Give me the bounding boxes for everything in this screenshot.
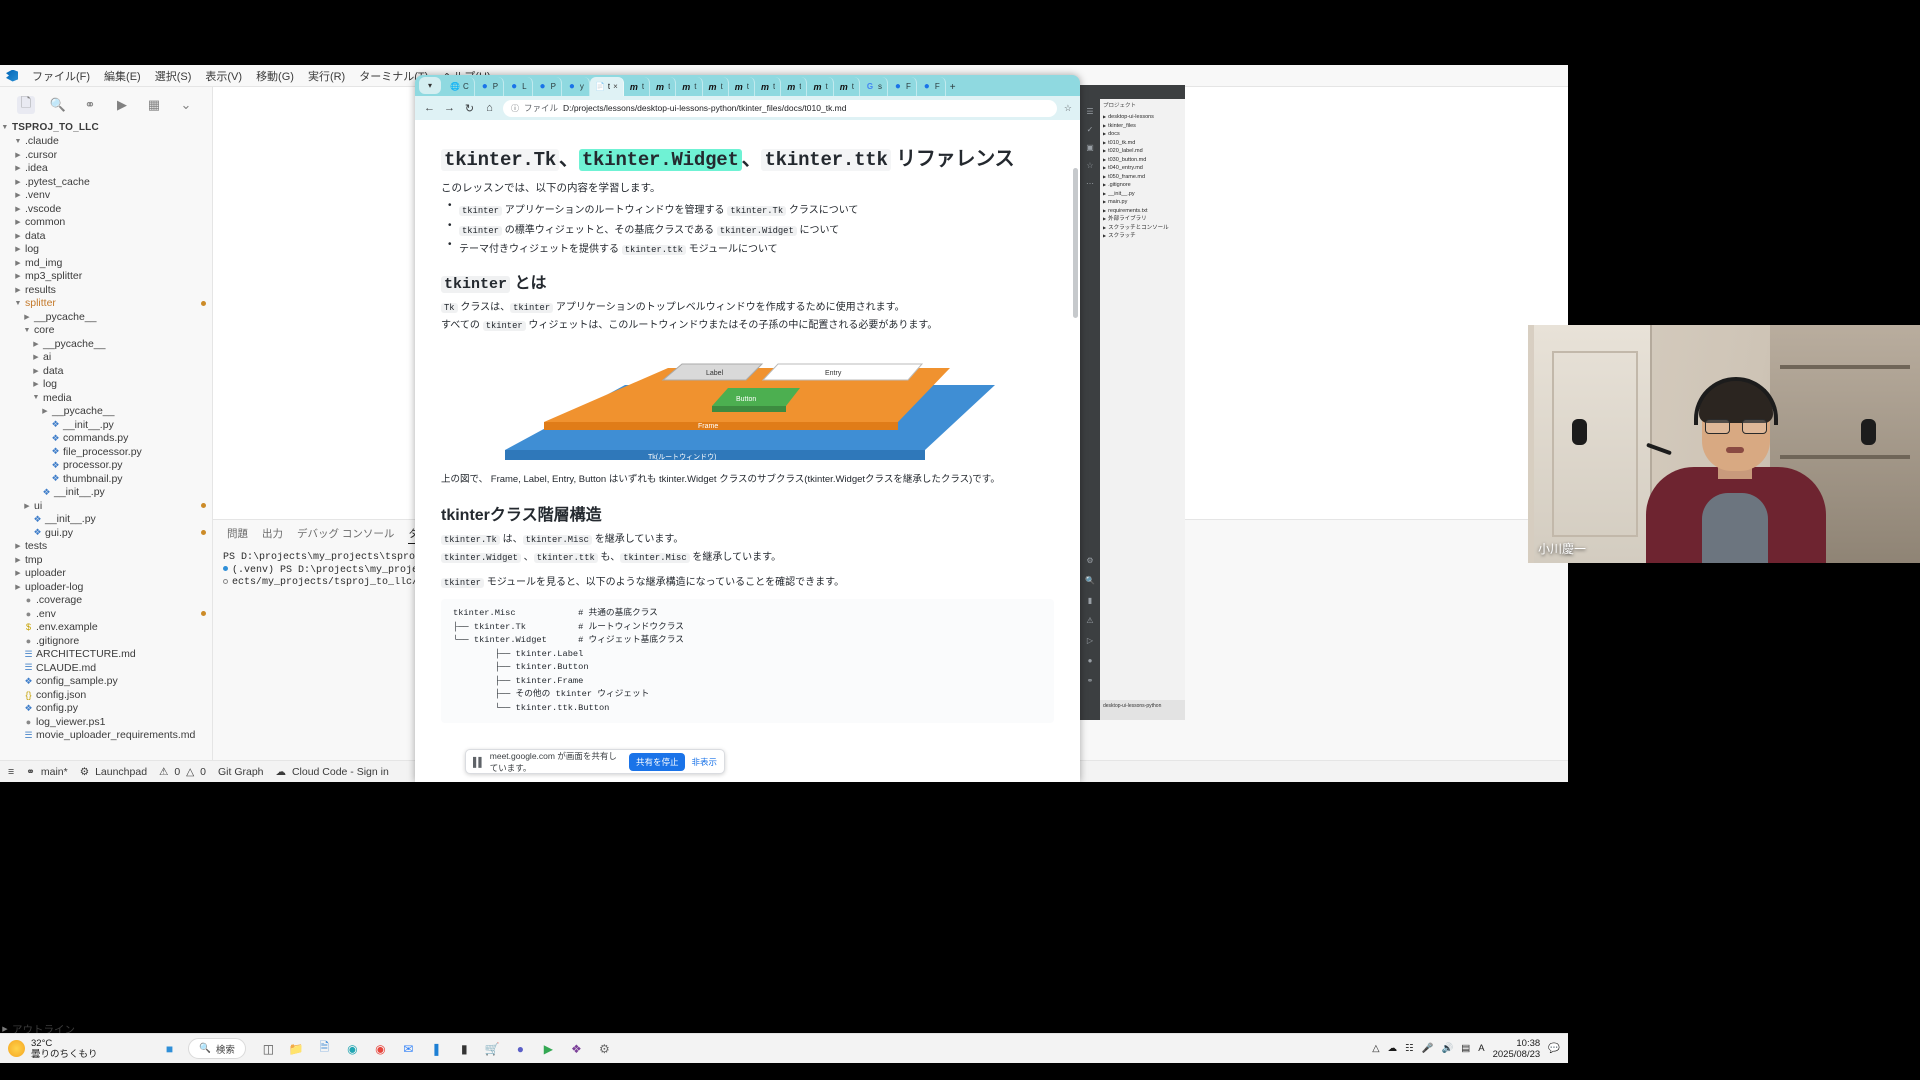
- chrome-tabstrip[interactable]: ▾ 🌐C●P●L●P●y📄t×mtmtmtmtmtmtmtmtmtGs●F●F+: [415, 75, 1080, 96]
- commit-tool-icon[interactable]: ✓: [1087, 125, 1094, 134]
- menu-edit[interactable]: 編集(E): [98, 66, 147, 86]
- debug-icon[interactable]: ▶: [113, 96, 131, 114]
- browser-tab-label: t: [852, 82, 854, 91]
- address-bar[interactable]: ⓘ ファイル D:/projects/lessons/desktop-ui-le…: [503, 100, 1057, 117]
- chevron-right-icon: ▶: [13, 191, 23, 199]
- tab-search-icon[interactable]: ▾: [419, 77, 441, 94]
- search-icon[interactable]: 🔍: [49, 96, 67, 114]
- pycharm-tree-item[interactable]: ▶t010_tk.md: [1103, 139, 1182, 148]
- status-branch[interactable]: ⚭ main*: [26, 766, 68, 778]
- chevron-right-icon: ▶: [1103, 215, 1106, 224]
- tree-folder[interactable]: ▶mp3_splitter: [0, 270, 212, 284]
- tree-folder[interactable]: ▶__pycache__: [0, 405, 212, 419]
- inline-code: tkinter: [441, 276, 510, 293]
- pycharm-tree-item[interactable]: ▶スクラッチとコンソール: [1103, 224, 1182, 233]
- store-icon[interactable]: 🛒: [483, 1039, 502, 1058]
- edge-icon[interactable]: ◉: [343, 1039, 362, 1058]
- browser-tab[interactable]: mt: [755, 77, 781, 96]
- inline-code: tkinter.Widget: [717, 226, 797, 236]
- headset-icon: [1694, 377, 1778, 425]
- explorer-icon[interactable]: 🗋: [17, 96, 35, 114]
- tree-item-label: mp3_splitter: [23, 270, 82, 282]
- task-view-icon[interactable]: ◫: [259, 1039, 278, 1058]
- notepad-icon[interactable]: 🗎: [315, 1039, 334, 1058]
- m-icon: m: [708, 82, 718, 92]
- markdown-file-icon: ☰: [23, 649, 34, 660]
- panel-tab-output[interactable]: 出力: [262, 526, 283, 544]
- slack-icon[interactable]: ❖: [567, 1039, 586, 1058]
- file-icon: ●: [23, 595, 34, 605]
- tree-folder[interactable]: ▼media: [0, 391, 212, 405]
- chevron-right-icon: ▶: [1103, 224, 1106, 233]
- status-git-graph[interactable]: Git Graph: [218, 766, 264, 778]
- tree-item-label: .coverage: [34, 594, 82, 606]
- tree-folder[interactable]: ▶results: [0, 283, 212, 297]
- screen-share-bar: ▌▌ meet.google.com が画面を共有しています。 共有を停止 非表…: [465, 749, 725, 774]
- m-icon: m: [786, 82, 796, 92]
- python-file-icon: ❖: [50, 446, 61, 457]
- tree-file[interactable]: ❖config_sample.py: [0, 675, 212, 689]
- tree-item-label: __init__.py: [43, 513, 96, 525]
- inline-code: tkinter.ttk: [534, 553, 598, 563]
- tree-item-label: config.json: [34, 689, 86, 701]
- markdown-file-icon: ☰: [23, 730, 34, 741]
- tree-file[interactable]: ❖processor.py: [0, 459, 212, 473]
- pycharm-tree-label: requirements.txt: [1108, 207, 1147, 216]
- pycharm-project-tree[interactable]: ▶desktop-ui-lessons▶tkinter_files▶docs▶t…: [1100, 111, 1185, 243]
- tree-item-label: __init__.py: [52, 486, 105, 498]
- taskbar-clock[interactable]: 10:38 2025/08/23: [1493, 1038, 1541, 1060]
- tree-folder[interactable]: ▶.venv: [0, 189, 212, 203]
- source-control-icon[interactable]: ⚭: [81, 96, 99, 114]
- pycharm-project-label: プロジェクト: [1100, 99, 1185, 111]
- mic-icon[interactable]: 🎤: [1422, 1043, 1434, 1054]
- pycharm-tree-label: t030_button.md: [1108, 156, 1146, 165]
- modified-indicator: [201, 530, 206, 535]
- m-icon: m: [629, 82, 639, 92]
- tree-folder[interactable]: ▶common: [0, 216, 212, 230]
- chevron-down-icon: ▼: [22, 327, 32, 334]
- debug-tool-icon[interactable]: ●: [1088, 656, 1093, 665]
- tree-item-label: log_viewer.ps1: [34, 716, 105, 728]
- terminal-icon[interactable]: ▮: [455, 1039, 474, 1058]
- tree-item-label: data: [41, 365, 63, 377]
- git-tool-icon[interactable]: ⚭: [1087, 676, 1094, 685]
- chevron-right-icon: ▶: [13, 178, 23, 186]
- tree-item-label: .cursor: [23, 149, 57, 161]
- m-icon: m: [812, 82, 822, 92]
- taskbar-icons[interactable]: ■ 🔍 検索 ◫ 📁 🗎 ◉ ◉ ✉ ❚ ▮ 🛒 ● ▶ ❖ ⚙: [160, 1038, 1372, 1059]
- tree-folder[interactable]: ▶ai: [0, 351, 212, 365]
- modified-indicator: [201, 503, 206, 508]
- menu-run[interactable]: 実行(R): [302, 66, 351, 86]
- inline-code: tkinter: [483, 321, 526, 331]
- tree-file[interactable]: ❖gui.py: [0, 526, 212, 540]
- chevron-right-icon: ▶: [13, 218, 23, 226]
- search-tool-icon[interactable]: 🔍: [1085, 576, 1095, 585]
- menu-view[interactable]: 表示(V): [199, 66, 248, 86]
- drop-icon: ●: [509, 82, 519, 92]
- browser-tab-label: C: [463, 82, 469, 91]
- hide-sharing-button[interactable]: 非表示: [691, 756, 717, 768]
- chevron-down-icon: ▼: [0, 124, 10, 131]
- chevron-right-icon: ▶: [1103, 130, 1106, 139]
- chevron-down-icon: ▼: [31, 394, 41, 401]
- explorer-root[interactable]: ▼TSPROJ_TO_LLC: [0, 121, 212, 135]
- tree-item-label: log: [23, 243, 39, 255]
- objective-item: tkinter アプリケーションのルートウィンドウを管理する tkinter.T…: [445, 201, 1054, 216]
- drop-icon: ●: [922, 82, 932, 92]
- tree-folder[interactable]: ▶md_img: [0, 256, 212, 270]
- pycharm-tree-item[interactable]: ▶docs: [1103, 130, 1182, 139]
- chevron-right-icon: ▶: [31, 367, 41, 375]
- tree-item-label: __pycache__: [41, 338, 105, 350]
- tree-item-label: .env: [34, 608, 56, 620]
- menu-file[interactable]: ファイル(F): [26, 66, 96, 86]
- tree-item-label: results: [23, 284, 56, 296]
- forward-arrow-icon[interactable]: →: [443, 102, 456, 114]
- m-icon: m: [681, 82, 691, 92]
- tree-folder[interactable]: ▼core: [0, 324, 212, 338]
- tree-file[interactable]: ●log_viewer.ps1: [0, 715, 212, 729]
- desktop-strip: [0, 1063, 1568, 1080]
- tree-folder[interactable]: ▶.pytest_cache: [0, 175, 212, 189]
- file-icon: ●: [23, 717, 34, 727]
- pycharm-window: プロジェクト ▶desktop-ui-lessons▶tkinter_files…: [1100, 85, 1185, 720]
- page-info-icon[interactable]: ⓘ: [511, 103, 519, 114]
- project-tool-icon[interactable]: ☰: [1086, 107, 1093, 116]
- pycharm-tree-item[interactable]: ▶main.py: [1103, 198, 1182, 207]
- panel-tab-debug-console[interactable]: デバッグ コンソール: [297, 526, 394, 544]
- windows-taskbar: 32°C 曇りのちくもり ■ 🔍 検索 ◫ 📁 🗎 ◉ ◉ ✉ ❚ ▮ 🛒 ● …: [0, 1033, 1568, 1063]
- tree-file[interactable]: ☰movie_uploader_requirements.md: [0, 729, 212, 743]
- volume-icon[interactable]: 🔊: [1441, 1043, 1453, 1054]
- modified-indicator: [201, 301, 206, 306]
- chevron-right-icon: ▶: [22, 502, 32, 510]
- browser-tab[interactable]: mt: [676, 77, 702, 96]
- pycharm-tree-item[interactable]: ▶desktop-ui-lessons: [1103, 113, 1182, 122]
- back-arrow-icon[interactable]: ←: [423, 102, 436, 114]
- tree-item-label: config_sample.py: [34, 675, 118, 687]
- browser-tab-label: s: [878, 82, 882, 91]
- tree-item-label: .idea: [23, 162, 48, 174]
- browser-tab[interactable]: mt: [729, 77, 755, 96]
- pycharm-tree-item[interactable]: ▶.gitignore: [1103, 181, 1182, 190]
- pycharm-tree-item[interactable]: ▶__init__.py: [1103, 190, 1182, 199]
- headset-earcup-left: [1572, 419, 1587, 445]
- tree-file[interactable]: $.env.example: [0, 621, 212, 635]
- tree-folder[interactable]: ▶log: [0, 243, 212, 257]
- browser-tab-label: t: [642, 82, 644, 91]
- status-errors[interactable]: ⚠ 0 △ 0: [159, 766, 206, 778]
- chevron-right-icon: ▶: [13, 232, 23, 240]
- pycharm-tree-item[interactable]: ▶t040_entry.md: [1103, 164, 1182, 173]
- section-heading-hierarchy: tkinterクラス階層構造: [441, 501, 1054, 525]
- tree-folder[interactable]: ▼splitter: [0, 297, 212, 311]
- figure-frame-label: Frame: [698, 423, 718, 430]
- objectives-list: tkinter アプリケーションのルートウィンドウを管理する tkinter.T…: [445, 201, 1054, 255]
- browser-tab[interactable]: ●F: [917, 77, 946, 96]
- browser-tab[interactable]: ●y: [562, 77, 590, 96]
- pycharm-tree-label: スクラッチとコンソール: [1108, 224, 1169, 233]
- tree-folder[interactable]: ▶uploader: [0, 567, 212, 581]
- env-file-icon: $: [23, 622, 34, 632]
- explorer-toolbar: 🗋 🔍 ⚭ ▶ ▦ ⌄: [0, 87, 212, 119]
- markdown-document: tkinter.Tk、tkinter.Widget、tkinter.ttk リフ…: [415, 120, 1080, 723]
- status-remote-icon[interactable]: ≡: [8, 766, 14, 778]
- pycharm-tree-item[interactable]: ▶requirements.txt: [1103, 207, 1182, 216]
- tree-file[interactable]: ❖commands.py: [0, 432, 212, 446]
- network-icon[interactable]: ☷: [1405, 1043, 1414, 1054]
- browser-tab[interactable]: ●P: [475, 77, 504, 96]
- start-icon[interactable]: ■: [160, 1039, 179, 1058]
- chevron-right-icon: ▶: [13, 151, 23, 159]
- m-icon: m: [839, 82, 849, 92]
- tree-file[interactable]: {}config.json: [0, 688, 212, 702]
- pycharm-tree-item[interactable]: ▶t050_frame.md: [1103, 173, 1182, 182]
- tree-folder[interactable]: ▶uploader-log: [0, 580, 212, 594]
- chevron-right-icon: ▶: [1103, 156, 1106, 165]
- problems-tool-icon[interactable]: ⚠: [1086, 616, 1093, 625]
- figure-svg: Label Entry Button Frame Tk(ルートウィンドウ): [500, 350, 995, 460]
- paragraph: tkinter モジュールを見ると、以下のような継承構造になっていることを確認で…: [441, 575, 1054, 591]
- tree-file[interactable]: ☰CLAUDE.md: [0, 661, 212, 675]
- tree-folder[interactable]: ▼.claude: [0, 135, 212, 149]
- meet-icon[interactable]: ▶: [539, 1039, 558, 1058]
- new-tab-button[interactable]: +: [946, 82, 960, 93]
- browser-tab[interactable]: mt: [650, 77, 676, 96]
- section-heading-tkinter-toha: tkinter とは: [441, 269, 1054, 293]
- tree-item-label: gui.py: [43, 527, 73, 539]
- tree-item-label: __pycache__: [50, 405, 114, 417]
- pycharm-tree-item[interactable]: ▶t030_button.md: [1103, 156, 1182, 165]
- tree-file[interactable]: ❖file_processor.py: [0, 445, 212, 459]
- onedrive-icon[interactable]: ☁: [1388, 1043, 1398, 1054]
- browser-tab[interactable]: ●P: [533, 77, 562, 96]
- tree-file[interactable]: ❖config.py: [0, 702, 212, 716]
- status-cloud-code[interactable]: ☁ Cloud Code - Sign in: [276, 766, 389, 778]
- tree-file[interactable]: ●.gitignore: [0, 634, 212, 648]
- tree-item-label: tests: [23, 540, 47, 552]
- menu-go[interactable]: 移動(G): [250, 66, 300, 86]
- file-tree[interactable]: ▼TSPROJ_TO_LLC▼.claude▶.cursor▶.idea▶.py…: [0, 119, 212, 782]
- run-tool-icon[interactable]: ▷: [1087, 636, 1093, 645]
- browser-tab[interactable]: mt: [834, 77, 860, 96]
- chevron-right-icon: ▶: [1103, 173, 1106, 182]
- tree-folder[interactable]: ▶ui: [0, 499, 212, 513]
- tree-item-label: .venv: [23, 189, 50, 201]
- tree-item-label: __pycache__: [32, 311, 96, 323]
- tree-folder[interactable]: ▶log: [0, 378, 212, 392]
- tree-item-label: data: [23, 230, 45, 242]
- browser-tab[interactable]: Gs: [860, 77, 888, 96]
- home-icon[interactable]: ⌂: [483, 102, 496, 114]
- weather-desc: 曇りのちくもり: [31, 1049, 98, 1060]
- browser-tab[interactable]: ●F: [888, 77, 917, 96]
- extensions-icon[interactable]: ▦: [145, 96, 163, 114]
- chevron-right-icon: ▶: [1103, 164, 1106, 173]
- structure-tool-icon[interactable]: ▣: [1086, 143, 1094, 152]
- tree-item-label: movie_uploader_requirements.md: [34, 729, 195, 741]
- title-code: tkinter.ttk: [761, 149, 890, 171]
- tree-folder[interactable]: ▶tests: [0, 540, 212, 554]
- reload-icon[interactable]: ↻: [463, 102, 476, 115]
- tree-folder[interactable]: ▶__pycache__: [0, 310, 212, 324]
- pycharm-tree-item[interactable]: ▶tkinter_files: [1103, 122, 1182, 131]
- browser-tab-label: t: [747, 82, 749, 91]
- hierarchy-description: tkinter.Tk は、tkinter.Misc を継承しています。tkint…: [441, 532, 1054, 566]
- tree-item-label: md_img: [23, 257, 62, 269]
- chrome-toolbar: ← → ↻ ⌂ ⓘ ファイル D:/projects/lessons/deskt…: [415, 96, 1080, 120]
- page-scrollbar[interactable]: [1073, 168, 1078, 318]
- share-pause-icon: ▌▌: [473, 757, 484, 767]
- settings-icon[interactable]: ⚙: [595, 1039, 614, 1058]
- webcam-door: [1534, 325, 1652, 563]
- browser-tab-label: t: [721, 82, 723, 91]
- tree-item-label: __init__.py: [61, 419, 114, 431]
- pycharm-tree-label: 外部ライブラリ: [1108, 215, 1147, 224]
- chevron-right-icon: ▶: [13, 205, 23, 213]
- python-file-icon: ❖: [50, 419, 61, 430]
- webcam-person: [1646, 357, 1826, 563]
- markdown-file-icon: ☰: [23, 662, 34, 673]
- close-icon[interactable]: ×: [613, 82, 618, 91]
- taskbar-search[interactable]: 🔍 検索: [188, 1038, 246, 1059]
- tree-file[interactable]: ❖__init__.py: [0, 486, 212, 500]
- drop-icon: ●: [567, 82, 577, 92]
- tree-file[interactable]: ❖__init__.py: [0, 513, 212, 527]
- search-icon: 🔍: [199, 1043, 211, 1054]
- tree-file[interactable]: ●.coverage: [0, 594, 212, 608]
- tree-folder[interactable]: ▶data: [0, 229, 212, 243]
- browser-tab-label: t: [799, 82, 801, 91]
- headset-earcup-right: [1861, 419, 1876, 445]
- python-file-icon: ❖: [23, 703, 34, 714]
- drop-icon: ●: [538, 82, 548, 92]
- chevron-right-icon: ▶: [13, 286, 23, 294]
- pycharm-tree-label: スクラッチ: [1108, 232, 1136, 241]
- tree-item-label: uploader-log: [23, 581, 83, 593]
- browser-tab[interactable]: mt: [781, 77, 807, 96]
- terminal-marker-icon: [223, 579, 228, 584]
- tree-folder[interactable]: ▶data: [0, 364, 212, 378]
- settings-tool-icon[interactable]: ⚙: [1086, 556, 1093, 565]
- browser-tab[interactable]: mt: [624, 77, 650, 96]
- tree-file[interactable]: ❖thumbnail.py: [0, 472, 212, 486]
- tree-file[interactable]: ☰ARCHITECTURE.md: [0, 648, 212, 662]
- chevron-right-icon: ▶: [1103, 232, 1106, 241]
- browser-tab-label: t: [608, 82, 610, 91]
- tree-item-label: ai: [41, 351, 51, 363]
- browser-tab[interactable]: 🌐C: [445, 77, 475, 96]
- chevron-right-icon: ▶: [1103, 122, 1106, 131]
- figure-label-label: Label: [706, 370, 724, 377]
- chevron-right-icon: ▶: [13, 583, 23, 591]
- system-tray[interactable]: △ ☁ ☷ 🎤 🔊 ▤ A 10:38 2025/08/23 💬: [1372, 1038, 1568, 1060]
- browser-tab[interactable]: 📄t×: [590, 77, 624, 96]
- pycharm-tree-item[interactable]: ▶外部ライブラリ: [1103, 215, 1182, 224]
- tree-item-label: uploader: [23, 567, 66, 579]
- mail-icon[interactable]: ✉: [399, 1039, 418, 1058]
- chevron-up-icon[interactable]: △: [1372, 1043, 1379, 1054]
- ime-icon[interactable]: A: [1478, 1043, 1484, 1054]
- paragraph: tkinter.Widget 、tkinter.ttk も、tkinter.Mi…: [441, 550, 1054, 566]
- m-icon: m: [655, 82, 665, 92]
- inline-code: tkinter.Widget: [441, 553, 521, 563]
- status-launchpad[interactable]: ⚙ Launchpad: [80, 766, 147, 778]
- notification-icon[interactable]: 💬: [1548, 1043, 1560, 1054]
- vscode-icon[interactable]: ❚: [427, 1039, 446, 1058]
- figure-root-label: Tk(ルートウィンドウ): [648, 453, 716, 460]
- pycharm-tree-item[interactable]: ▶t020_label.md: [1103, 147, 1182, 156]
- chevron-right-icon: ▶: [13, 259, 23, 267]
- tree-folder[interactable]: ▶.vscode: [0, 202, 212, 216]
- pycharm-tree-label: docs: [1108, 130, 1120, 139]
- explorer-icon[interactable]: 📁: [287, 1039, 306, 1058]
- python-file-icon: ❖: [50, 473, 61, 484]
- more-tool-icon[interactable]: ⋯: [1086, 179, 1094, 188]
- pycharm-statusbar: desktop-ui-lessons-python: [1100, 700, 1185, 720]
- chevron-right-icon: ▶: [31, 380, 41, 388]
- chevron-right-icon: ▶: [1103, 139, 1106, 148]
- browser-tab-label: F: [935, 82, 940, 91]
- tree-item-label: media: [41, 392, 72, 404]
- m-icon: m: [734, 82, 744, 92]
- more-actions-icon[interactable]: ⌄: [177, 96, 195, 114]
- tree-folder[interactable]: ▶.cursor: [0, 148, 212, 162]
- pycharm-tree-item[interactable]: ▶スクラッチ: [1103, 232, 1182, 241]
- menu-select[interactable]: 選択(S): [149, 66, 198, 86]
- panel-tab-problems[interactable]: 問題: [227, 526, 248, 544]
- inline-code: tkinter: [459, 226, 502, 236]
- tree-item-label: config.py: [34, 702, 78, 714]
- tree-item-label: commands.py: [61, 432, 128, 444]
- browser-tab[interactable]: ●L: [504, 77, 532, 96]
- stop-sharing-button[interactable]: 共有を停止: [629, 753, 686, 771]
- chevron-right-icon: ▶: [13, 569, 23, 577]
- python-file-icon: ❖: [23, 676, 34, 687]
- terminal-tool-icon[interactable]: ▮: [1088, 596, 1092, 605]
- chevron-right-icon: ▶: [13, 556, 23, 564]
- tree-folder[interactable]: ▶tmp: [0, 553, 212, 567]
- tree-folder[interactable]: ▶__pycache__: [0, 337, 212, 351]
- tree-folder[interactable]: ▶.idea: [0, 162, 212, 176]
- browser-tab-label: P: [551, 82, 556, 91]
- tree-file[interactable]: ❖__init__.py: [0, 418, 212, 432]
- share-message: meet.google.com が画面を共有しています。: [490, 750, 623, 774]
- browser-tab-label: F: [906, 82, 911, 91]
- chevron-right-icon: ▶: [1103, 181, 1106, 190]
- clock-date: 2025/08/23: [1493, 1049, 1541, 1060]
- battery-icon[interactable]: ▤: [1461, 1043, 1470, 1054]
- python-file-icon: ❖: [32, 514, 43, 525]
- bookmark-star-icon[interactable]: ☆: [1064, 103, 1072, 114]
- browser-tab[interactable]: mt: [703, 77, 729, 96]
- chrome-icon[interactable]: ◉: [371, 1039, 390, 1058]
- pycharm-rail-bottom[interactable]: ⚙ 🔍 ▮ ⚠ ▷ ● ⚭: [1080, 550, 1100, 720]
- drop-icon: ●: [480, 82, 490, 92]
- weather-widget[interactable]: 32°C 曇りのちくもり: [0, 1038, 160, 1060]
- inline-code: tkinter: [510, 303, 553, 313]
- bookmarks-tool-icon[interactable]: ☆: [1086, 161, 1093, 170]
- pycharm-tree-label: tkinter_files: [1108, 122, 1136, 131]
- title-code: tkinter.Tk: [441, 149, 559, 171]
- tree-file[interactable]: ●.env: [0, 607, 212, 621]
- teams-icon[interactable]: ●: [511, 1039, 530, 1058]
- browser-tab[interactable]: mt: [807, 77, 833, 96]
- lead-paragraph: このレッスンでは、以下の内容を学習します。: [441, 180, 1054, 195]
- g-icon: G: [865, 82, 875, 92]
